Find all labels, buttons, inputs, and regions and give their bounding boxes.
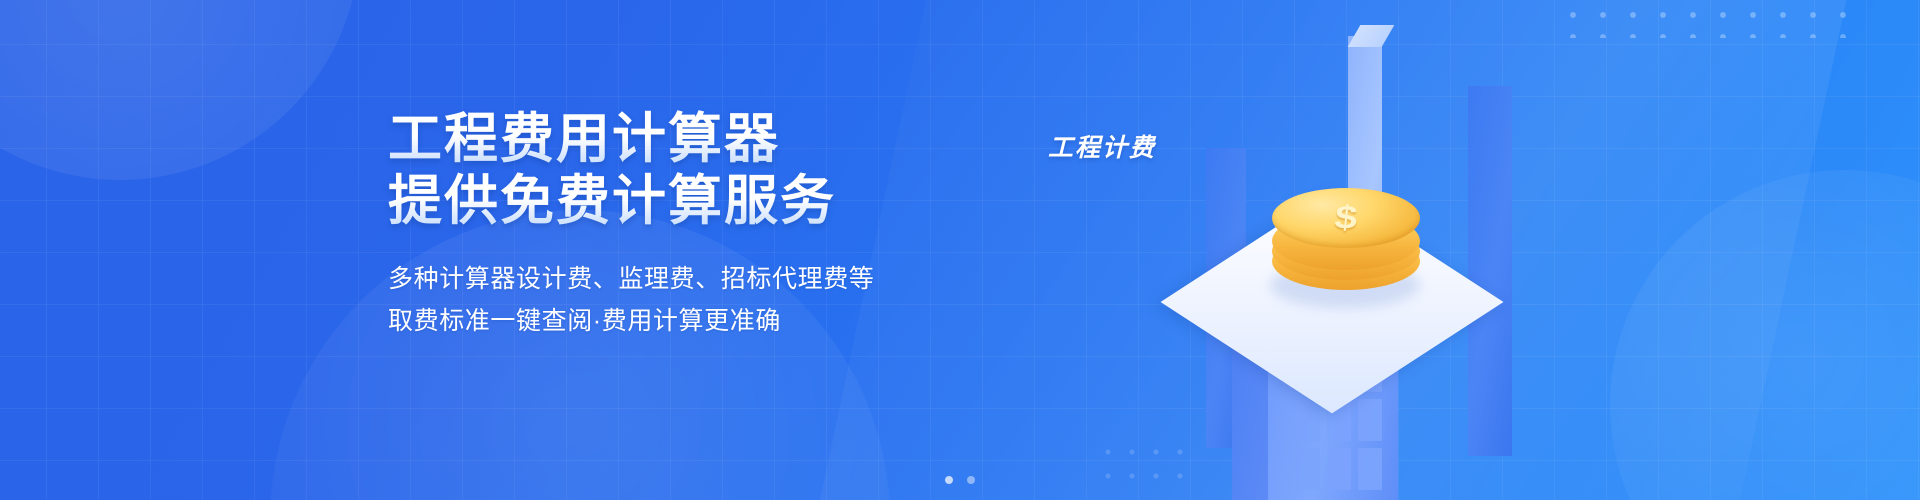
chart-bar-tall-top [1348, 25, 1395, 47]
hero-banner: $ 工程计费 工程费用计算器 提供免费计算服务 多种计算器设计费、监理费、招标代… [0, 0, 1920, 500]
window-cell [1296, 448, 1320, 490]
window-cell [1327, 448, 1351, 490]
carousel-dot-1[interactable] [945, 476, 953, 484]
isometric-illustration: $ 工程计费 [1080, 0, 1640, 500]
banner-subtitle-line-1: 多种计算器设计费、监理费、招标代理费等 [388, 258, 948, 300]
window-cell [1296, 399, 1320, 441]
illustration-label: 工程计费 [1048, 128, 1156, 164]
carousel-pagination[interactable] [945, 476, 975, 484]
carousel-dot-2[interactable] [967, 476, 975, 484]
banner-copy: 工程费用计算器 提供免费计算服务 多种计算器设计费、监理费、招标代理费等 取费标… [388, 108, 948, 342]
page-title-line-2: 提供免费计算服务 [388, 170, 948, 232]
window-cell [1358, 448, 1382, 490]
page-title-line-1: 工程费用计算器 [388, 108, 948, 170]
coin-stack-icon: $ [1272, 186, 1420, 294]
chart-bar-right [1468, 86, 1512, 456]
dollar-sign-icon: $ [1269, 193, 1422, 242]
window-cell [1358, 399, 1382, 441]
banner-subtitle-line-2: 取费标准一键查阅·费用计算更准确 [388, 300, 948, 342]
